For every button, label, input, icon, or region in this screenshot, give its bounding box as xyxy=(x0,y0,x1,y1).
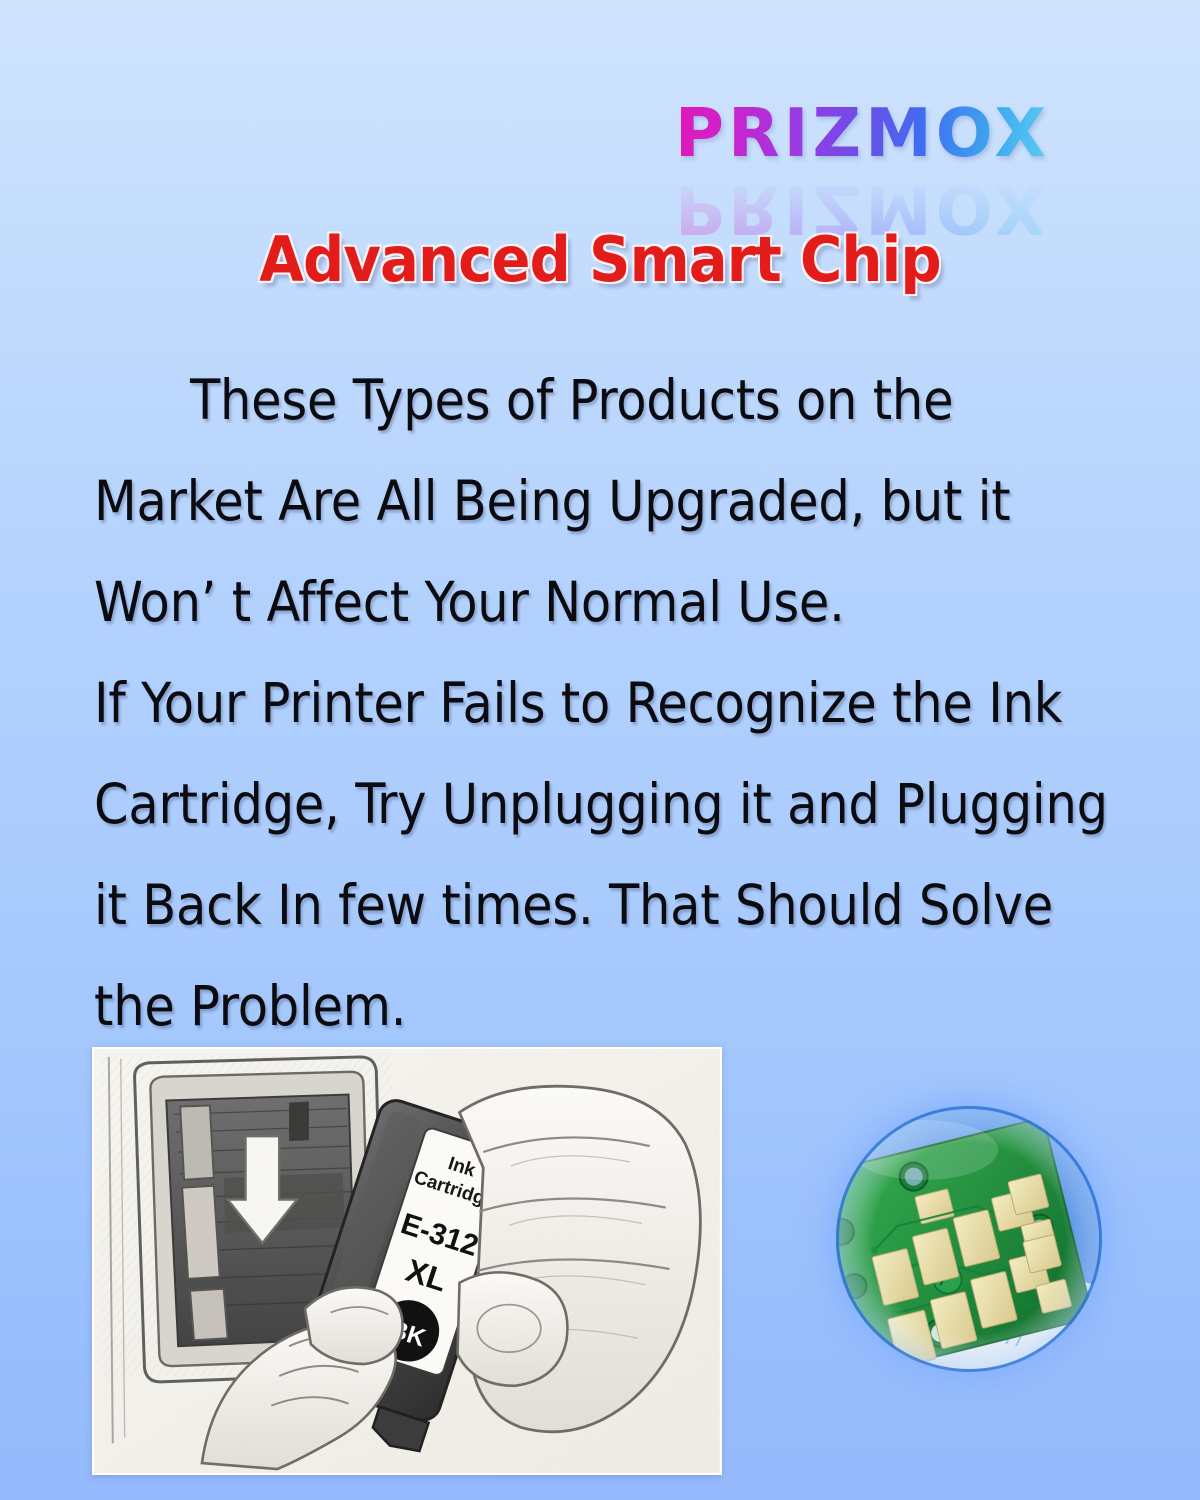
brand-logo-text: PRIZMOX xyxy=(675,96,1050,170)
page-title: Advanced Smart Chip xyxy=(42,222,1158,298)
sketch-svg: Ink Cartridge E-312 XL BK xyxy=(94,1049,720,1473)
cartridge-install-sketch-image: Ink Cartridge E-312 XL BK xyxy=(92,1047,722,1475)
chip-svg xyxy=(836,1106,1102,1372)
body-paragraph-1: These Types of Products on the Market Ar… xyxy=(94,350,1124,653)
poster-root: PRIZMOX PRIZMOX Advanced Smart Chip Thes… xyxy=(0,0,1200,1500)
brand-logo-area: PRIZMOX PRIZMOX xyxy=(0,96,1200,226)
body-copy: These Types of Products on the Market Ar… xyxy=(94,350,1124,1057)
smart-chip-macro-image xyxy=(836,1106,1102,1372)
body-paragraph-2: If Your Printer Fails to Recognize the I… xyxy=(94,653,1124,1057)
